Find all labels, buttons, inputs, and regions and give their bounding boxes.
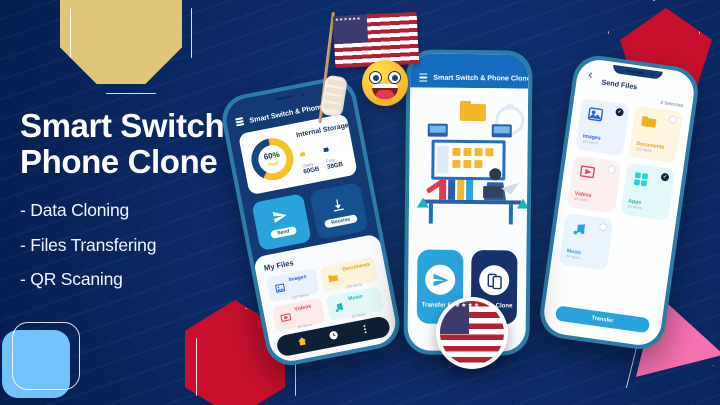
folder-icon: [639, 112, 658, 131]
folder-icon: [326, 270, 341, 285]
send-button-label: Send: [270, 226, 297, 240]
feature-bullet-data-cloning: - Data Cloning: [20, 202, 270, 220]
receive-button[interactable]: Receive: [309, 182, 369, 240]
clock-icon[interactable]: [326, 326, 340, 346]
paper-plane-icon: [425, 265, 455, 295]
emoji-eye-right: [388, 71, 401, 84]
emoji-eye-left: [369, 71, 382, 84]
headline-block: Smart Switch Phone Clone - Data Cloning …: [20, 108, 270, 289]
music-icon: [331, 299, 346, 314]
file-tile-videos[interactable]: Videos 84 Items: [272, 298, 326, 332]
two-phones-icon: [479, 265, 509, 295]
badge-stars: ★★★★★★: [442, 303, 467, 332]
video-icon: [278, 310, 293, 325]
send-tile-music[interactable]: Music 84 Items: [559, 213, 614, 271]
badge-canton: ★★★★★★: [440, 301, 469, 334]
feature-bullet-qr-scaning: - QR Scaning: [20, 271, 270, 289]
storage-legend-used: Used 60GB: [298, 141, 320, 175]
checkbox-videos[interactable]: [607, 165, 616, 174]
file-tile-documents-name: Documents: [342, 261, 371, 272]
storage-used-value: 60GB: [303, 166, 320, 176]
send-tile-apps[interactable]: Apps 25 Items: [620, 163, 675, 221]
hand-holding-flag: [320, 75, 348, 118]
emoji-mouth: [372, 84, 398, 99]
legend-swatch-used: [300, 152, 305, 157]
storage-free-value: 38GB: [326, 161, 343, 171]
phone-center-appbar: Smart Switch & Phone Clone: [410, 53, 528, 88]
music-icon: [570, 220, 589, 239]
legend-swatch-free: [323, 147, 328, 152]
storage-legend-free: Free 38GB: [322, 136, 344, 170]
office-desk-illustration: [409, 87, 529, 236]
back-arrow-icon[interactable]: [585, 66, 596, 85]
send-tile-images[interactable]: Images 120 Items: [575, 98, 630, 156]
headline-line-1: Smart Switch: [20, 108, 270, 144]
download-icon: [328, 195, 348, 215]
file-tile-music-name: Music: [348, 293, 364, 302]
excited-emoji: [362, 60, 408, 106]
hamburger-icon[interactable]: [419, 74, 427, 82]
image-icon: [586, 105, 605, 124]
file-tile-videos-count: 84 Items: [297, 322, 312, 329]
checkbox-apps[interactable]: [660, 173, 669, 182]
flag-cloth: ★★★★★★: [333, 12, 420, 68]
video-icon: [578, 162, 597, 181]
file-tile-music[interactable]: Music 28 Items: [325, 286, 384, 321]
apps-grid-icon: [631, 170, 650, 189]
send-files-grid: Images 120 Items Documents 220 Items Vid…: [559, 98, 683, 279]
checkbox-images[interactable]: [615, 108, 624, 117]
transfer-button[interactable]: Transfer: [555, 305, 650, 333]
menu-icon[interactable]: [358, 320, 372, 340]
image-icon: [272, 280, 287, 295]
headline-line-2: Phone Clone: [20, 144, 270, 180]
receive-button-label: Receive: [324, 214, 358, 229]
flag-stars: ★★★★★★: [335, 17, 366, 43]
send-files-title: Send Files: [601, 77, 638, 91]
file-tile-videos-name: Videos: [294, 303, 312, 312]
feature-bullet-files-transfering: - Files Transfering: [20, 237, 270, 255]
checkbox-documents[interactable]: [669, 115, 678, 124]
paper-plane-icon: [270, 206, 290, 226]
flag-canton: ★★★★★★: [333, 14, 368, 44]
checkbox-music[interactable]: [599, 223, 608, 232]
file-tile-music-count: 28 Items: [351, 312, 366, 319]
send-tile-documents[interactable]: Documents 220 Items: [628, 105, 683, 163]
phone-center-app-title: Smart Switch & Phone Clone: [433, 74, 528, 83]
blue-rounded-square-outline-shape: [12, 322, 80, 390]
send-tile-videos[interactable]: Videos 84 Items: [567, 155, 622, 213]
file-tile-images-name: Images: [288, 273, 307, 282]
home-icon[interactable]: [295, 333, 309, 353]
usa-flag-badge: ★★★★★★: [436, 297, 508, 369]
